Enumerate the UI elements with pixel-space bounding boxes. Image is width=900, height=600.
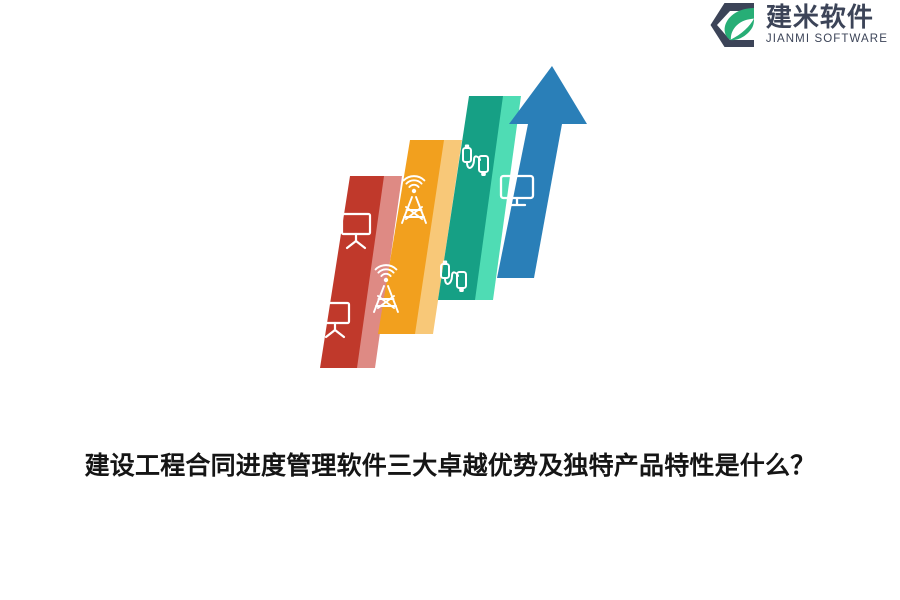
ascending-arrow-bars-illustration bbox=[290, 48, 590, 388]
page-root: 建米软件 JIANMI SOFTWARE bbox=[0, 0, 900, 600]
brand-name-en: JIANMI SOFTWARE bbox=[766, 33, 888, 47]
brand-name-cn: 建米软件 bbox=[766, 3, 888, 31]
blue-bar-arrowhead-icon bbox=[509, 66, 587, 124]
brand-logo[interactable]: 建米软件 JIANMI SOFTWARE bbox=[710, 0, 888, 50]
brand-text-block: 建米软件 JIANMI SOFTWARE bbox=[766, 3, 888, 47]
jianmi-hexagon-leaf-logo-icon bbox=[710, 2, 758, 48]
page-title: 建设工程合同进度管理软件三大卓越优势及独特产品特性是什么？ bbox=[0, 446, 900, 486]
